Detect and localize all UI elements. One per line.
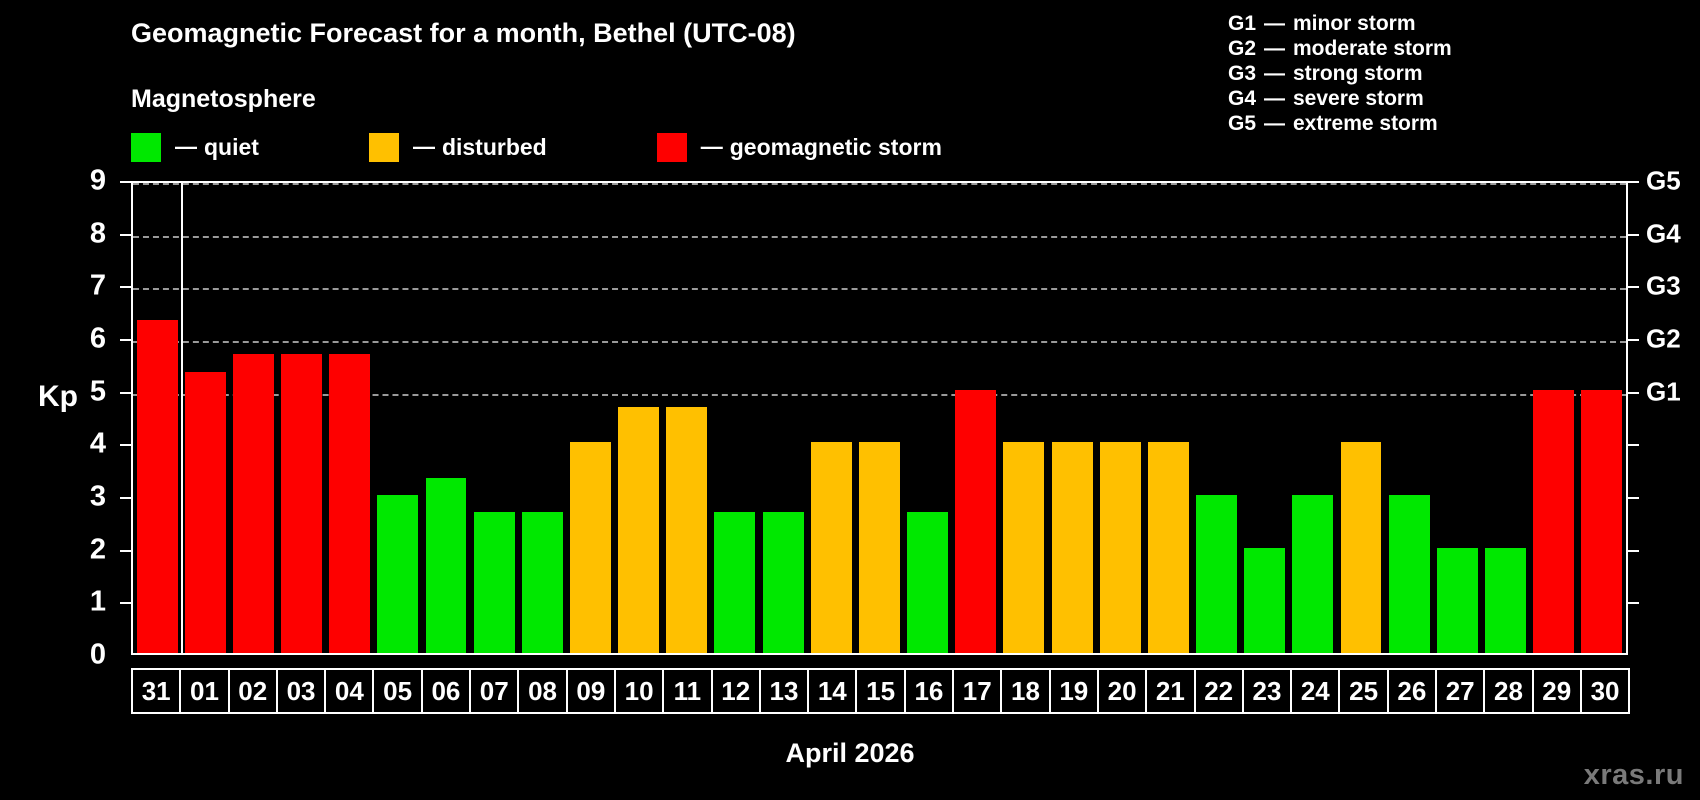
day-label-18[interactable]: 18 bbox=[1000, 668, 1050, 714]
gscale-row-g3: G3—strong storm bbox=[1228, 62, 1452, 87]
day-label-09[interactable]: 09 bbox=[566, 668, 616, 714]
bar-cell[interactable] bbox=[1578, 183, 1626, 653]
bar-cell[interactable] bbox=[1192, 183, 1240, 653]
bar-day-26[interactable] bbox=[1389, 495, 1430, 653]
bar-day-19[interactable] bbox=[1052, 442, 1093, 653]
bar-day-30[interactable] bbox=[1581, 390, 1622, 653]
y-tick-label-0: 0 bbox=[90, 639, 106, 672]
legend-entry-quiet: —quiet bbox=[131, 133, 259, 162]
gscale-description: severe storm bbox=[1293, 87, 1424, 111]
gscale-code: G1 bbox=[1228, 12, 1262, 36]
gscale-description: strong storm bbox=[1293, 62, 1423, 86]
bar-day-12[interactable] bbox=[714, 512, 755, 653]
plot-area bbox=[131, 181, 1628, 655]
orange-square-icon bbox=[369, 133, 399, 162]
day-label-30[interactable]: 30 bbox=[1580, 668, 1630, 714]
bar-cell[interactable] bbox=[133, 183, 181, 653]
day-label-26[interactable]: 26 bbox=[1387, 668, 1437, 714]
bar-day-14[interactable] bbox=[811, 442, 852, 653]
gscale-dash: — bbox=[1264, 12, 1285, 36]
day-axis-labels: 3101020304050607080910111213141516171819… bbox=[131, 668, 1628, 714]
g-tick-label-g1: G1 bbox=[1646, 376, 1681, 407]
site-watermark: xras.ru bbox=[1584, 759, 1684, 792]
y-tick-mark bbox=[120, 602, 131, 604]
bar-cell[interactable] bbox=[1048, 183, 1096, 653]
day-label-08[interactable]: 08 bbox=[517, 668, 567, 714]
bar-day-10[interactable] bbox=[618, 407, 659, 653]
red-square-icon bbox=[657, 133, 687, 162]
day-label-07[interactable]: 07 bbox=[469, 668, 519, 714]
gscale-legend: G1—minor stormG2—moderate stormG3—strong… bbox=[1228, 12, 1452, 137]
day-label-25[interactable]: 25 bbox=[1338, 668, 1388, 714]
legend-dash: — bbox=[413, 136, 435, 158]
legend-heading: Magnetosphere bbox=[131, 85, 316, 114]
g-tick-mark bbox=[1628, 234, 1639, 236]
bar-cell[interactable] bbox=[1433, 183, 1481, 653]
legend-dash: — bbox=[175, 136, 197, 158]
g-tick-label-g2: G2 bbox=[1646, 324, 1681, 355]
day-label-29[interactable]: 29 bbox=[1532, 668, 1582, 714]
legend-entry-disturbed: —disturbed bbox=[369, 133, 547, 162]
g-tick-label-g4: G4 bbox=[1646, 218, 1681, 249]
bar-day-03[interactable] bbox=[281, 354, 322, 653]
gscale-description: minor storm bbox=[1293, 12, 1416, 36]
bar-day-04[interactable] bbox=[329, 354, 370, 653]
bar-cell[interactable] bbox=[470, 183, 518, 653]
gscale-row-g1: G1—minor storm bbox=[1228, 12, 1452, 37]
bar-cell[interactable] bbox=[1530, 183, 1578, 653]
bar-cell[interactable] bbox=[374, 183, 422, 653]
page-title: Geomagnetic Forecast for a month, Bethel… bbox=[131, 18, 796, 49]
gscale-code: G4 bbox=[1228, 87, 1262, 111]
bar-cell[interactable] bbox=[229, 183, 277, 653]
day-label-16[interactable]: 16 bbox=[904, 668, 954, 714]
bar-day-27[interactable] bbox=[1437, 548, 1478, 653]
bar-day-16[interactable] bbox=[907, 512, 948, 653]
y-tick-label-8: 8 bbox=[90, 217, 106, 250]
day-label-31[interactable]: 31 bbox=[131, 668, 181, 714]
bar-day-02[interactable] bbox=[233, 354, 274, 653]
day-label-27[interactable]: 27 bbox=[1435, 668, 1485, 714]
day-label-23[interactable]: 23 bbox=[1242, 668, 1292, 714]
bar-day-18[interactable] bbox=[1003, 442, 1044, 653]
day-label-22[interactable]: 22 bbox=[1194, 668, 1244, 714]
bar-cell[interactable] bbox=[711, 183, 759, 653]
y-tick-label-6: 6 bbox=[90, 323, 106, 356]
bar-cell[interactable] bbox=[1000, 183, 1048, 653]
y-axis-label: Kp bbox=[38, 380, 78, 414]
bar-cell[interactable] bbox=[1481, 183, 1529, 653]
y-tick-mark bbox=[120, 234, 131, 236]
day-label-03[interactable]: 03 bbox=[276, 668, 326, 714]
bar-cell[interactable] bbox=[904, 183, 952, 653]
day-label-11[interactable]: 11 bbox=[662, 668, 712, 714]
bar-day-17[interactable] bbox=[955, 390, 996, 653]
bar-day-06[interactable] bbox=[426, 478, 467, 653]
g-tick-mark bbox=[1628, 550, 1639, 552]
bar-day-01[interactable] bbox=[185, 372, 226, 653]
gscale-code: G5 bbox=[1228, 112, 1262, 136]
legend-label: disturbed bbox=[442, 136, 547, 159]
y-tick-label-5: 5 bbox=[90, 375, 106, 408]
gscale-row-g4: G4—severe storm bbox=[1228, 87, 1452, 112]
day-label-15[interactable]: 15 bbox=[855, 668, 905, 714]
gscale-dash: — bbox=[1264, 37, 1285, 61]
bar-day-31[interactable] bbox=[137, 320, 178, 653]
day-label-06[interactable]: 06 bbox=[421, 668, 471, 714]
bar-day-24[interactable] bbox=[1292, 495, 1333, 653]
bar-cell[interactable] bbox=[1096, 183, 1144, 653]
bar-cell[interactable] bbox=[759, 183, 807, 653]
g-tick-mark bbox=[1628, 339, 1639, 341]
gscale-code: G3 bbox=[1228, 62, 1262, 86]
g-tick-mark bbox=[1628, 286, 1639, 288]
gscale-description: extreme storm bbox=[1293, 112, 1438, 136]
day-label-10[interactable]: 10 bbox=[614, 668, 664, 714]
bar-day-13[interactable] bbox=[763, 512, 804, 653]
bar-cell[interactable] bbox=[807, 183, 855, 653]
bar-cell[interactable] bbox=[1337, 183, 1385, 653]
day-label-19[interactable]: 19 bbox=[1049, 668, 1099, 714]
gscale-dash: — bbox=[1264, 62, 1285, 86]
geomagnetic-forecast-chart: Geomagnetic Forecast for a month, Bethel… bbox=[0, 0, 1700, 800]
legend-dash: — bbox=[701, 136, 723, 158]
gscale-description: moderate storm bbox=[1293, 37, 1452, 61]
bar-day-28[interactable] bbox=[1485, 548, 1526, 653]
green-square-icon bbox=[131, 133, 161, 162]
bar-day-20[interactable] bbox=[1100, 442, 1141, 653]
legend-label: quiet bbox=[204, 136, 259, 159]
bar-day-15[interactable] bbox=[859, 442, 900, 653]
bar-day-08[interactable] bbox=[522, 512, 563, 653]
bar-cell[interactable] bbox=[855, 183, 903, 653]
y-tick-label-2: 2 bbox=[90, 533, 106, 566]
y-tick-mark bbox=[120, 339, 131, 341]
gscale-row-g5: G5—extreme storm bbox=[1228, 112, 1452, 137]
bar-cell[interactable] bbox=[566, 183, 614, 653]
gscale-code: G2 bbox=[1228, 37, 1262, 61]
bar-cell[interactable] bbox=[952, 183, 1000, 653]
bar-cell[interactable] bbox=[181, 183, 229, 653]
g-tick-mark bbox=[1628, 444, 1639, 446]
legend-entry-geomagnetic-storm: —geomagnetic storm bbox=[657, 133, 942, 162]
y-tick-label-7: 7 bbox=[90, 270, 106, 303]
gscale-dash: — bbox=[1264, 112, 1285, 136]
x-axis-label: April 2026 bbox=[0, 738, 1700, 769]
y-tick-mark bbox=[120, 444, 131, 446]
bar-cell[interactable] bbox=[1385, 183, 1433, 653]
day-label-04[interactable]: 04 bbox=[324, 668, 374, 714]
y-tick-mark bbox=[120, 392, 131, 394]
bar-day-29[interactable] bbox=[1533, 390, 1574, 653]
legend-label: geomagnetic storm bbox=[730, 136, 942, 159]
bar-day-09[interactable] bbox=[570, 442, 611, 653]
bar-day-23[interactable] bbox=[1244, 548, 1285, 653]
y-tick-label-9: 9 bbox=[90, 165, 106, 198]
bar-day-07[interactable] bbox=[474, 512, 515, 653]
gscale-dash: — bbox=[1264, 87, 1285, 111]
gscale-row-g2: G2—moderate storm bbox=[1228, 37, 1452, 62]
bar-cell[interactable] bbox=[615, 183, 663, 653]
bar-cell[interactable] bbox=[277, 183, 325, 653]
g-tick-label-g5: G5 bbox=[1646, 166, 1681, 197]
y-tick-mark bbox=[120, 181, 131, 183]
y-tick-mark bbox=[120, 550, 131, 552]
bar-cell[interactable] bbox=[422, 183, 470, 653]
bar-cell[interactable] bbox=[1144, 183, 1192, 653]
bar-day-21[interactable] bbox=[1148, 442, 1189, 653]
g-tick-mark bbox=[1628, 181, 1639, 183]
g-tick-label-g3: G3 bbox=[1646, 271, 1681, 302]
g-tick-mark bbox=[1628, 392, 1639, 394]
y-tick-label-4: 4 bbox=[90, 428, 106, 461]
day-label-21[interactable]: 21 bbox=[1145, 668, 1195, 714]
y-tick-label-3: 3 bbox=[90, 481, 106, 514]
y-tick-mark bbox=[120, 497, 131, 499]
day-label-02[interactable]: 02 bbox=[228, 668, 278, 714]
bar-day-05[interactable] bbox=[377, 495, 418, 653]
day-label-12[interactable]: 12 bbox=[711, 668, 761, 714]
magnetosphere-legend: —quiet—disturbed—geomagnetic storm bbox=[131, 132, 942, 162]
bar-cell[interactable] bbox=[1241, 183, 1289, 653]
day-label-14[interactable]: 14 bbox=[807, 668, 857, 714]
y-tick-label-1: 1 bbox=[90, 586, 106, 619]
bar-cell[interactable] bbox=[326, 183, 374, 653]
bar-day-11[interactable] bbox=[666, 407, 707, 653]
bar-cell[interactable] bbox=[663, 183, 711, 653]
bar-day-25[interactable] bbox=[1341, 442, 1382, 653]
bars-container bbox=[133, 183, 1626, 653]
bar-cell[interactable] bbox=[518, 183, 566, 653]
day-label-24[interactable]: 24 bbox=[1290, 668, 1340, 714]
day-label-05[interactable]: 05 bbox=[372, 668, 422, 714]
day-label-20[interactable]: 20 bbox=[1097, 668, 1147, 714]
y-tick-mark bbox=[120, 286, 131, 288]
bar-cell[interactable] bbox=[1289, 183, 1337, 653]
bar-day-22[interactable] bbox=[1196, 495, 1237, 653]
g-tick-mark bbox=[1628, 497, 1639, 499]
day-label-01[interactable]: 01 bbox=[179, 668, 229, 714]
day-label-17[interactable]: 17 bbox=[952, 668, 1002, 714]
day-label-13[interactable]: 13 bbox=[759, 668, 809, 714]
day-label-28[interactable]: 28 bbox=[1483, 668, 1533, 714]
g-tick-mark bbox=[1628, 602, 1639, 604]
